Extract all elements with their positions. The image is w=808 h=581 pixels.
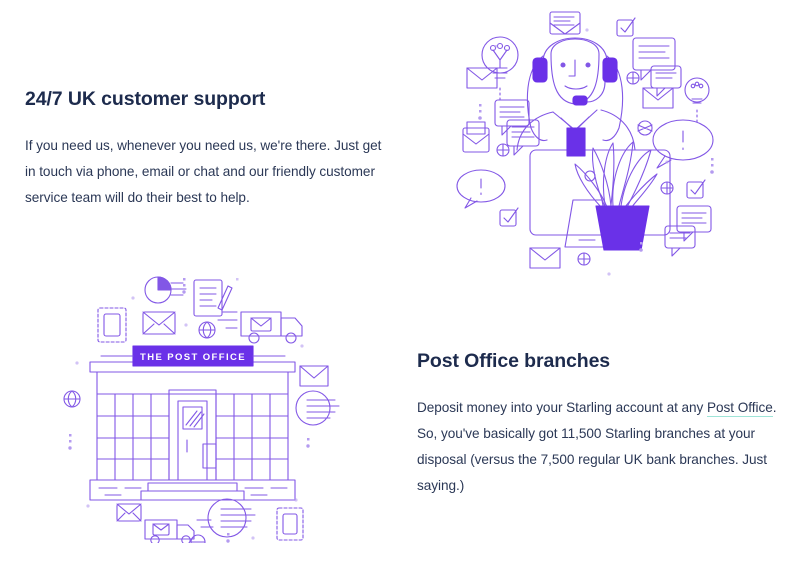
document-with-pen-icon [194, 280, 232, 316]
delivery-truck-icon [218, 312, 302, 343]
chat-bubble-icon [677, 206, 711, 241]
page-title-post-office: Post Office branches [417, 350, 782, 373]
pie-chart-icon [145, 277, 186, 303]
chat-bubble-alert-icon [457, 170, 505, 208]
post-office-sign: THE POST OFFICE [101, 346, 285, 366]
post-office-building-icon [90, 362, 295, 500]
envelope-open-icon [643, 88, 673, 108]
gear-icon [578, 253, 590, 265]
body-text-post-office: Deposit money into your Starling account… [417, 395, 782, 499]
light-bulb-icon [685, 78, 709, 122]
globe-icon [199, 322, 215, 338]
gear-icon [627, 72, 639, 84]
headset-agent-icon [517, 38, 635, 156]
chat-bubble-icon [633, 38, 675, 80]
envelope-icon [550, 12, 580, 34]
checkbox-checked-icon [500, 208, 518, 226]
page-title-customer-support: 24/7 UK customer support [25, 88, 385, 111]
envelope-open-icon [467, 68, 497, 88]
section-post-office-branches: Post Office branches Deposit money into … [417, 350, 782, 499]
delivery-truck-icon [145, 520, 213, 543]
envelope-open-icon [530, 248, 560, 268]
envelope-icon [117, 504, 141, 521]
light-bulb-icon [482, 37, 518, 102]
envelope-icon [463, 122, 489, 152]
envelope-icon [143, 312, 175, 334]
checkbox-checked-icon [687, 180, 705, 198]
checkbox-checked-icon [617, 18, 635, 36]
post-office-sign-text: THE POST OFFICE [140, 352, 246, 363]
customer-support-illustration [455, 10, 800, 310]
post-office-link[interactable]: Post Office [707, 400, 773, 417]
section-customer-support: 24/7 UK customer support If you need us,… [25, 88, 385, 211]
mail-speed-lines-icon [208, 499, 255, 537]
post-office-illustration: THE POST OFFICE [55, 268, 355, 543]
globe-icon [64, 391, 80, 407]
postage-stamp-icon [277, 508, 303, 540]
body-text-customer-support: If you need us, whenever you need us, we… [25, 133, 385, 211]
gear-icon [497, 144, 509, 156]
mail-speed-lines-icon [296, 391, 339, 425]
postage-stamp-icon [98, 308, 126, 342]
gear-icon [661, 182, 673, 194]
envelope-open-icon [300, 366, 328, 386]
potted-plant-icon [575, 142, 657, 250]
body-text-prefix: Deposit money into your Starling account… [417, 400, 707, 415]
chat-bubble-alert-icon [653, 120, 713, 168]
page-root: 24/7 UK customer support If you need us,… [0, 0, 808, 581]
gear-icon [638, 121, 652, 135]
